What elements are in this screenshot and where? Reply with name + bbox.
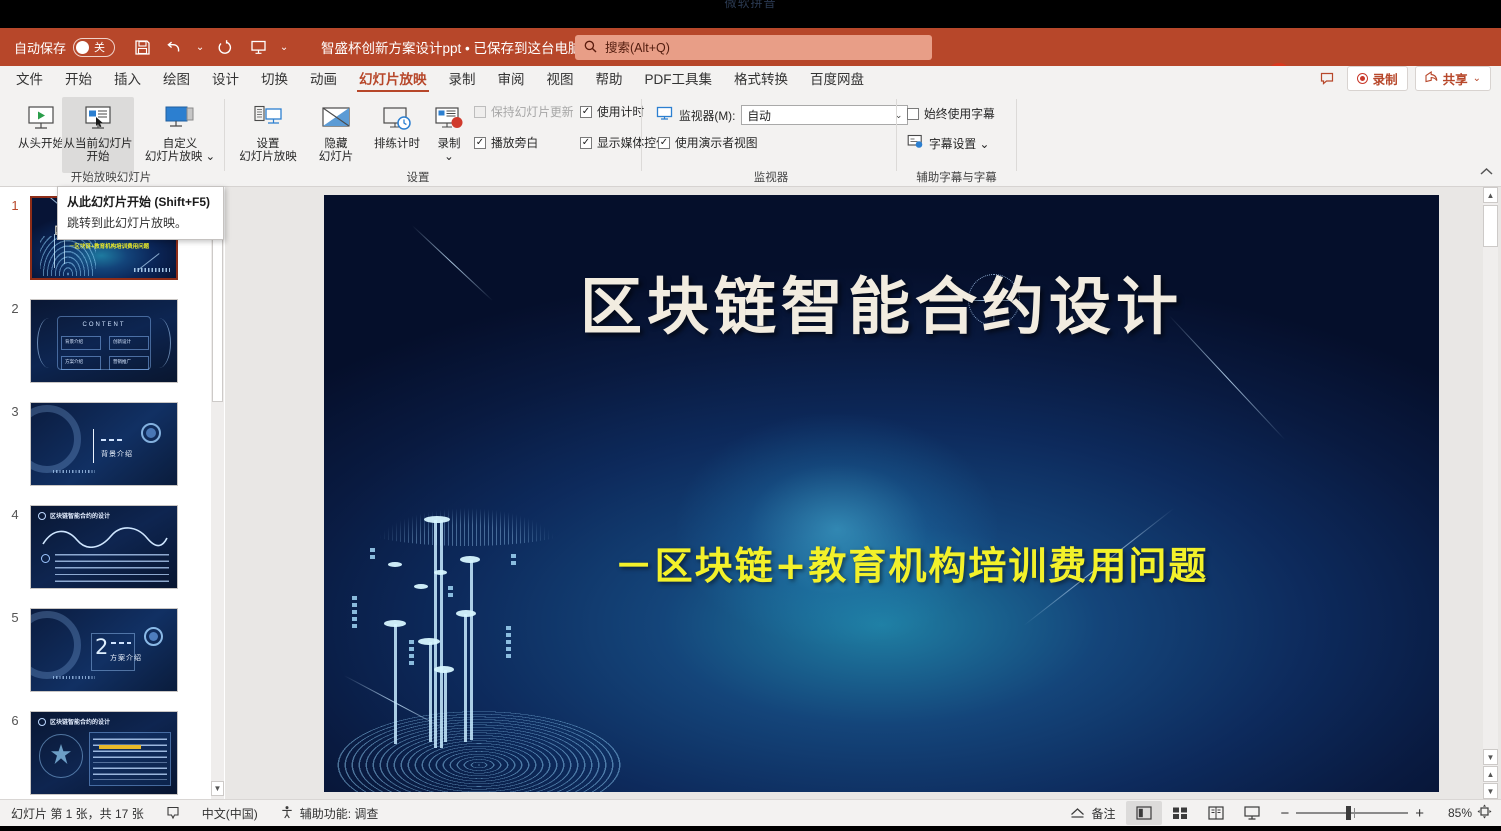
tab-view[interactable]: 视图 — [536, 65, 585, 93]
thumbnail-item-4[interactable]: 4 区块链智能合约的设计 — [0, 505, 210, 589]
ribbon-separator-4 — [1016, 99, 1017, 171]
setup-show-button[interactable]: 设置 幻灯片放映 — [233, 97, 303, 173]
play-narrations-label: 播放旁白 — [491, 134, 538, 151]
keep-slides-updated-label: 保持幻灯片更新 — [491, 103, 574, 120]
thumbnail-image-6[interactable]: 区块链智能合约的设计 — [30, 711, 178, 795]
share-icon — [1425, 71, 1438, 86]
undo-dropdown-icon[interactable]: ⌄ — [191, 33, 209, 61]
document-title[interactable]: 智盛杯创新方案设计ppt • 已保存到这台电脑 ⌄ — [321, 37, 596, 57]
language-status[interactable]: 中文(中国) — [191, 800, 269, 826]
slide-scroll-up-button[interactable]: ▲ — [1483, 187, 1498, 203]
checkbox-box: ✓ — [580, 137, 592, 149]
work-area: 1 区块链智能合约设计 －区块链+教育机构培训费用问题 2 — [0, 187, 1501, 799]
tab-pdf-tools[interactable]: PDF工具集 — [634, 65, 724, 93]
start-presentation-icon[interactable] — [243, 33, 273, 61]
language-text: 中文(中国) — [202, 805, 258, 822]
monitor-selector-row: 监视器(M): 自动 ⌄ — [656, 105, 908, 125]
redo-icon[interactable] — [211, 33, 241, 61]
zoom-track[interactable] — [1296, 812, 1408, 814]
record-ribbon-label: 录制 ⌄ — [438, 138, 461, 164]
thumbnail-scroll-down-button[interactable]: ▼ — [211, 781, 224, 796]
notes-label: 备注 — [1091, 805, 1115, 822]
search-box[interactable] — [575, 35, 932, 60]
tab-format-convert[interactable]: 格式转换 — [723, 65, 799, 93]
checkbox-box — [907, 108, 919, 120]
play-screen-icon — [25, 102, 57, 136]
tooltip-body: 跳转到此幻灯片放映。 — [67, 214, 214, 231]
share-chevron-icon[interactable]: ⌄ — [1473, 73, 1481, 84]
group-label-setup: 设置 — [378, 169, 458, 185]
thumbnail-item-6[interactable]: 6 区块链智能合约的设计 — [0, 711, 210, 795]
hide-slide-label: 隐藏 幻灯片 — [319, 138, 354, 164]
timer-icon — [381, 102, 413, 136]
tab-transitions[interactable]: 切换 — [250, 65, 299, 93]
use-presenter-view-label: 使用演示者视图 — [675, 134, 758, 151]
record-label: 录制 — [1373, 69, 1398, 88]
autosave-state: 关 — [94, 39, 105, 55]
current-slide-icon — [82, 102, 114, 136]
thumbnail-item-2[interactable]: 2 CONTENT 背景介绍 创新设计 方案介绍 营销推广 — [0, 299, 210, 383]
record-icon — [1357, 73, 1368, 84]
tab-home[interactable]: 开始 — [54, 65, 103, 93]
ribbon-tab-bar: 文件 开始 插入 绘图 设计 切换 动画 幻灯片放映 录制 审阅 视图 帮助 P… — [0, 66, 1501, 93]
thumbnail-number: 5 — [0, 608, 30, 625]
monitor-icon — [656, 106, 673, 124]
thumbnail-image-2[interactable]: CONTENT 背景介绍 创新设计 方案介绍 营销推广 — [30, 299, 178, 383]
group-label-captions: 辅助字幕与字幕 — [900, 169, 1013, 185]
rehearse-timings-button[interactable]: 排练计时 — [368, 97, 426, 173]
slide-scrollbar-thumb[interactable] — [1483, 205, 1498, 247]
tab-help[interactable]: 帮助 — [585, 65, 634, 93]
record-button[interactable]: 录制 — [1347, 66, 1408, 91]
fit-slide-icon[interactable] — [1472, 804, 1501, 822]
status-bar: 幻灯片 第 1 张，共 17 张 中文(中国) 辅助功能: 调查 备注 — [0, 799, 1501, 826]
slide-scrollbar[interactable]: ▲ ▼ ▲ ▼ — [1483, 187, 1498, 799]
tab-slide-show[interactable]: 幻灯片放映 — [348, 65, 438, 93]
tab-draw[interactable]: 绘图 — [152, 65, 201, 93]
setup-show-icon — [252, 102, 284, 136]
ribbon-separator-1 — [224, 99, 225, 171]
normal-view-button[interactable] — [1126, 801, 1162, 825]
ribbon-group-captions: 始终使用字幕 字幕设置 ⌄ 辅助字幕与字幕 — [900, 93, 1013, 187]
ribbon-separator-2 — [641, 99, 642, 171]
ribbon-group-monitors: 监视器(M): 自动 ⌄ ✓ 使用演示者视图 监视器 — [648, 93, 894, 187]
tab-insert[interactable]: 插入 — [103, 65, 152, 93]
slide-glow — [677, 414, 997, 644]
zoom-out-button[interactable]: − — [1280, 805, 1289, 822]
from-beginning-label: 从头开始 — [18, 138, 64, 151]
desktop-bottom-strip — [0, 826, 1501, 831]
search-icon — [584, 40, 597, 56]
qat-more-icon[interactable]: ⌄ — [275, 33, 293, 61]
tab-baidu-netdisk[interactable]: 百度网盘 — [799, 65, 875, 93]
thumbnail-image-4[interactable]: 区块链智能合约的设计 — [30, 505, 178, 589]
share-button[interactable]: 共享 ⌄ — [1415, 66, 1491, 91]
ribbon: 从头开始 从当前幻灯片 开始 自定义 幻灯片放映 ⌄ 开始放映幻灯片 — [0, 93, 1501, 187]
tooltip: 从此幻灯片开始 (Shift+F5) 跳转到此幻灯片放映。 — [57, 186, 224, 240]
slide-scroll-down-button[interactable]: ▼ — [1483, 749, 1498, 765]
ribbon-group-start-show: 从头开始 从当前幻灯片 开始 自定义 幻灯片放映 ⌄ 开始放映幻灯片 — [0, 93, 222, 187]
use-presenter-view-checkbox[interactable]: ✓ 使用演示者视图 — [658, 134, 758, 151]
checkbox-box: ✓ — [580, 106, 592, 118]
reading-view-button[interactable] — [1198, 801, 1234, 825]
accessibility-label: 辅助功能: 调查 — [300, 805, 379, 822]
previous-slide-button[interactable]: ▲ — [1483, 766, 1498, 782]
document-title-text: 智盛杯创新方案设计ppt • 已保存到这台电脑 — [321, 37, 582, 57]
slide-subtitle-text[interactable]: －区块链+教育机构培训费用问题 — [324, 535, 1439, 590]
autosave-label: 自动保存 — [14, 38, 66, 57]
zoom-slider[interactable]: − + — [1270, 805, 1434, 822]
tab-file[interactable]: 文件 — [5, 65, 54, 93]
thumbnail-number: 4 — [0, 505, 30, 522]
slide-canvas[interactable]: 区块链智能合约设计 －区块链+教育机构培训费用问题 ❯❯❯❯❯❯❯❯❯❯❯❯❯❯… — [324, 195, 1439, 792]
slide-count-text: 幻灯片 第 1 张，共 17 张 — [11, 805, 144, 822]
custom-show-button[interactable]: 自定义 幻灯片放映 ⌄ — [141, 97, 219, 173]
group-label-monitors: 监视器 — [648, 169, 894, 185]
accessibility-status[interactable]: 辅助功能: 调查 — [269, 800, 390, 826]
checkbox-box: ✓ — [658, 137, 670, 149]
zoom-midpoint — [1354, 808, 1355, 818]
monitor-dropdown[interactable]: 自动 ⌄ — [741, 105, 908, 125]
thumbnail-item-3[interactable]: 3 背景介绍 — [0, 402, 210, 486]
thumbnail-number: 6 — [0, 711, 30, 728]
save-icon[interactable] — [127, 33, 157, 61]
thumbnail-item-5[interactable]: 5 2 方案介绍 — [0, 608, 210, 692]
notes-button[interactable]: 备注 — [1059, 805, 1126, 822]
slideshow-button[interactable] — [1234, 801, 1270, 825]
thumbnail-number: 1 — [0, 196, 30, 213]
tab-review[interactable]: 审阅 — [487, 65, 536, 93]
setup-show-label: 设置 幻灯片放映 — [239, 138, 297, 164]
slide-sorter-button[interactable] — [1162, 801, 1198, 825]
undo-icon[interactable] — [159, 33, 189, 61]
quick-access-toolbar: ⌄ ⌄ — [127, 33, 293, 61]
share-label: 共享 — [1443, 69, 1468, 88]
always-use-subtitles-checkbox[interactable]: 始终使用字幕 — [907, 105, 995, 122]
flag-icon[interactable] — [155, 800, 191, 826]
record-ribbon-button[interactable]: 录制 ⌄ — [426, 97, 472, 173]
thumbnail-number: 3 — [0, 402, 30, 419]
play-narrations-checkbox[interactable]: ✓ 播放旁白 — [474, 134, 538, 151]
hide-slide-button[interactable]: 隐藏 幻灯片 — [305, 97, 367, 173]
autosave-toggle[interactable]: 关 — [73, 38, 115, 57]
from-current-slide-label: 从当前幻灯片 开始 — [64, 138, 133, 164]
ribbon-separator-3 — [896, 99, 897, 171]
custom-show-icon — [163, 102, 197, 136]
use-timings-label: 使用计时 — [597, 103, 644, 120]
rehearse-timings-label: 排练计时 — [374, 138, 420, 151]
notes-icon — [1070, 805, 1085, 821]
always-use-subtitles-label: 始终使用字幕 — [924, 105, 995, 122]
autosave-knob — [76, 41, 89, 54]
status-bar-right: 备注 − + 85% — [1059, 801, 1501, 825]
desktop-top-strip: 微软拼音 — [0, 0, 1501, 28]
monitor-label: 监视器(M): — [679, 107, 735, 124]
caption-settings-label: 字幕设置 ⌄ — [929, 135, 989, 152]
tab-bar-right: 录制 共享 ⌄ — [1314, 66, 1501, 93]
checkbox-box — [474, 106, 486, 118]
collapse-ribbon-button[interactable] — [1480, 165, 1493, 179]
tab-design[interactable]: 设计 — [201, 65, 250, 93]
accessibility-icon — [280, 805, 294, 822]
search-input[interactable] — [605, 41, 923, 55]
record-icon — [433, 102, 465, 136]
zoom-knob[interactable] — [1346, 806, 1351, 820]
zoom-value[interactable]: 85% — [1434, 806, 1472, 820]
thumbnail-number: 2 — [0, 299, 30, 316]
slide-thumbnail-pane[interactable]: 1 区块链智能合约设计 －区块链+教育机构培训费用问题 2 — [0, 187, 225, 799]
tooltip-title: 从此幻灯片开始 (Shift+F5) — [67, 193, 214, 210]
use-timings-checkbox[interactable]: ✓ 使用计时 — [580, 103, 644, 120]
slide-title-text[interactable]: 区块链智能合约设计 — [324, 256, 1439, 346]
slide-count-status[interactable]: 幻灯片 第 1 张，共 17 张 — [0, 800, 155, 826]
ribbon-group-setup: 设置 幻灯片放映 隐藏 幻灯片 排练计时 录制 ⌄ — [228, 93, 638, 187]
thumbnail-image-3[interactable]: 背景介绍 — [30, 402, 178, 486]
caption-settings-button[interactable]: 字幕设置 ⌄ — [907, 134, 989, 152]
from-current-slide-button[interactable]: 从当前幻灯片 开始 — [62, 97, 134, 173]
autosave-control[interactable]: 自动保存 关 — [14, 38, 115, 57]
custom-show-label: 自定义 幻灯片放映 ⌄ — [145, 138, 215, 164]
keep-slides-updated-checkbox[interactable]: 保持幻灯片更新 — [474, 103, 574, 120]
tab-animations[interactable]: 动画 — [299, 65, 348, 93]
ime-ghost-text: 微软拼音 — [0, 0, 1501, 11]
checkbox-box: ✓ — [474, 137, 486, 149]
group-label-start-show: 开始放映幻灯片 — [0, 169, 222, 185]
hide-slide-icon — [320, 102, 352, 136]
next-slide-button[interactable]: ▼ — [1483, 783, 1498, 799]
comment-icon[interactable] — [1314, 68, 1340, 89]
caption-settings-icon — [907, 134, 924, 152]
monitor-value: 自动 — [747, 107, 771, 124]
tab-record[interactable]: 录制 — [438, 65, 487, 93]
zoom-in-button[interactable]: + — [1415, 805, 1424, 822]
thumbnail-image-5[interactable]: 2 方案介绍 — [30, 608, 178, 692]
